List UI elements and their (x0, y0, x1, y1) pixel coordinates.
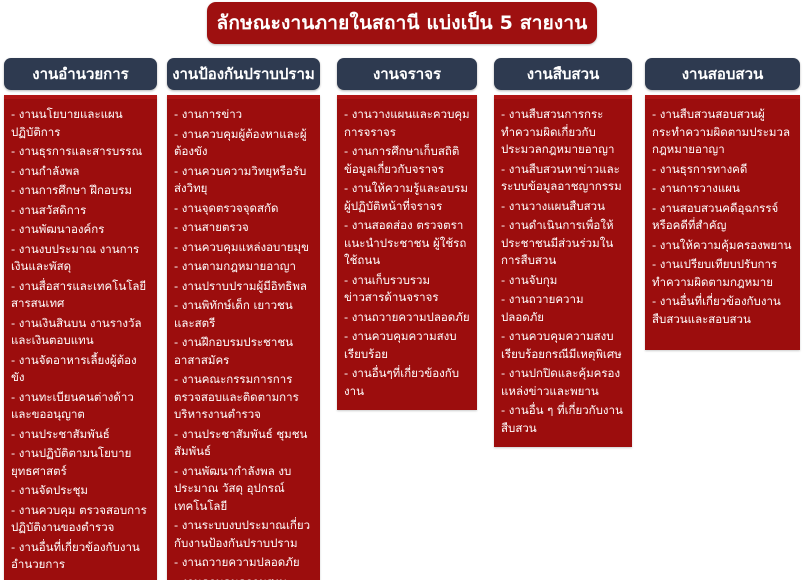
branch-column-traffic: งานจราจร - งานวางแผนและควบคุมการจราจร - … (337, 58, 477, 410)
list-item: - งานสายตรวจ (174, 219, 313, 237)
list-item: - งานคณะกรรมการการตรวจสอบและติดตามการบริ… (174, 371, 313, 424)
list-item: - งานอื่นที่เกี่ยวข้องกับงานสืบสวนและสอบ… (652, 293, 793, 328)
list-item: - งานกำลังพล (11, 163, 150, 181)
list-item: - งานให้ความคุ้มครองพยาน (652, 237, 793, 255)
list-item: - งานระบบงบประมาณเกี่ยวกับงานป้องกันปราบ… (174, 517, 313, 552)
list-item: - งานปราบปรามผู้มีอิทธิพล (174, 278, 313, 296)
list-item: - งานเปรียบเทียบปรับการทำความผิดตามกฎหมา… (652, 256, 793, 291)
list-item: - งานดำเนินการเพื่อให้ประชาชนมีส่วนร่วมใ… (501, 217, 625, 270)
list-item: - งานการข่าว (174, 106, 313, 124)
task-list-investigation: - งานสืบสวนการกระทำความผิดเกี่ยวกับประมว… (501, 106, 625, 437)
column-header-traffic[interactable]: งานจราจร (337, 58, 477, 90)
list-item: - งานงบประมาณ งานการเงินและพัสดุ (11, 241, 150, 276)
column-header-label: งานสืบสวน (527, 62, 600, 86)
list-item: - งานพัฒนาองค์กร (11, 221, 150, 239)
org-chart-page: ลักษณะงานภายในสถานี แบ่งเป็น 5 สายงาน งา… (0, 0, 805, 580)
column-body-inquiry: - งานสืบสวนสอบสวนผู้กระทำความผิดตามประมว… (645, 95, 800, 350)
list-item: - งานธุรการและสารบรรณ (11, 143, 150, 161)
list-item: - งานควบคุมผู้ต้องหาและผู้ต้องขัง (174, 126, 313, 161)
task-list-inquiry: - งานสืบสวนสอบสวนผู้กระทำความผิดตามประมว… (652, 106, 793, 328)
list-item: - งานพิทักษ์เด็ก เยาวชน และสตรี (174, 297, 313, 332)
list-item: - งานการศึกษา ฝึกอบรม (11, 182, 150, 200)
column-header-label: งานสอบสวน (682, 62, 764, 86)
list-item: - งานพัฒนากำลังพล งบประมาณ วัสดุ อุปกรณ์… (174, 463, 313, 516)
list-item: - งานอื่นๆที่เกี่ยวข้องกับงาน (344, 365, 470, 400)
task-list-crime-prevention: - งานการข่าว - งานควบคุมผู้ต้องหาและผู้ต… (174, 106, 313, 580)
list-item: - งานปกปิดและคุ้มครองแหล่งข่าวและพยาน (501, 365, 625, 400)
branch-column-inquiry: งานสอบสวน - งานสืบสวนสอบสวนผู้กระทำความผ… (645, 58, 800, 350)
list-item: - งานประชาสัมพันธ์ (11, 426, 150, 444)
list-item: - งานการศึกษาเก็บสถิติข้อมูลเกี่ยวกับจรา… (344, 143, 470, 178)
list-item: - งานควบคุมความสงบเรียบร้อย (344, 328, 470, 363)
list-item: - งานถวายความปลอดภัย (344, 309, 470, 327)
column-body-investigation: - งานสืบสวนการกระทำความผิดเกี่ยวกับประมว… (494, 95, 632, 447)
column-header-crime-prevention[interactable]: งานป้องกันปราบปราม (167, 58, 320, 90)
list-item: - งานจุดตรวจจุดสกัด (174, 200, 313, 218)
column-header-label: งานจราจร (373, 62, 441, 86)
list-item: - งานจับกุม (501, 272, 625, 290)
list-item: - งานควบคุมความสงบเรียบร้อยกรณีมีเหตุพิเ… (501, 328, 625, 363)
list-item: - งานสืบสวนการกระทำความผิดเกี่ยวกับประมว… (501, 106, 625, 159)
list-item: - งานสวัสดิการ (11, 202, 150, 220)
column-header-inquiry[interactable]: งานสอบสวน (645, 58, 800, 90)
column-body-crime-prevention: - งานการข่าว - งานควบคุมผู้ต้องหาและผู้ต… (167, 95, 320, 580)
page-title: ลักษณะงานภายในสถานี แบ่งเป็น 5 สายงาน (217, 8, 588, 38)
list-item: - งานควบคุมแหล่งอบายมุข (174, 239, 313, 257)
list-item: - งานจัดประชุม (11, 482, 150, 500)
list-item: - งานถวายความปลอดภัย (501, 291, 625, 326)
branch-column-investigation: งานสืบสวน - งานสืบสวนการกระทำความผิดเกี่… (494, 58, 632, 447)
list-item: - งานให้ความรู้และอบรมผู้ปฏิบัติหน้าที่จ… (344, 180, 470, 215)
page-title-banner: ลักษณะงานภายในสถานี แบ่งเป็น 5 สายงาน (207, 2, 597, 44)
list-item: - งานอื่น ๆ ที่เกี่ยวกับงานสืบสวน (501, 402, 625, 437)
list-item: - งานวางแผนสืบสวน (501, 198, 625, 216)
task-list-administration: - งานนโยบายและแผนปฏิบัติการ - งานธุรการแ… (11, 106, 150, 574)
list-item: - งานควบคุม ตรวจสอบการปฏิบัติงานของตำรวจ (11, 502, 150, 537)
list-item: - งานสอดส่อง ตรวจตรา แนะนำประชาชน ผู้ใช้… (344, 217, 470, 270)
branch-column-administration: งานอำนวยการ - งานนโยบายและแผนปฏิบัติการ … (4, 58, 157, 580)
column-header-label: งานอำนวยการ (32, 62, 128, 86)
list-item: - งานตามกฎหมายอาญา (174, 258, 313, 276)
list-item: - งานถวายความปลอดภัย (174, 554, 313, 572)
list-item: - งานควบความวิทยุหรือรับส่งวิทยุ (174, 163, 313, 198)
list-item: - งานปฏิบัติตามนโยบายยุทธศาสตร์ (11, 445, 150, 480)
list-item: - งานสืบสวนสอบสวนผู้กระทำความผิดตามประมว… (652, 106, 793, 159)
column-header-administration[interactable]: งานอำนวยการ (4, 58, 157, 90)
list-item: - งานจัดอาหารเลี้ยงผู้ต้องขัง (11, 352, 150, 387)
list-item: - งานวางแผนและควบคุมการจราจร (344, 106, 470, 141)
column-body-administration: - งานนโยบายและแผนปฏิบัติการ - งานธุรการแ… (4, 95, 157, 580)
list-item: - งานธุรการทางคดี (652, 161, 793, 179)
list-item: - งานนโยบายและแผนปฏิบัติการ (11, 106, 150, 141)
list-item: - งานทะเบียนคนต่างด้าวและขออนุญาต (11, 389, 150, 424)
list-item: - งานสืบสวนหาข่าวและระบบข้อมูลอาชญากรรม (501, 161, 625, 196)
list-item: - งานการวางแผน (652, 180, 793, 198)
list-item: - งานเงินสินบน งานรางวัลและเงินตอบแทน (11, 315, 150, 350)
list-item: - งานเก็บรวบรวมข่าวสารด้านจราจร (344, 272, 470, 307)
column-header-label: งานป้องกันปราบปราม (172, 62, 315, 86)
list-item: - งานอื่นที่เกี่ยวข้องกับงานอำนวยการ (11, 539, 150, 574)
task-list-traffic: - งานวางแผนและควบคุมการจราจร - งานการศึก… (344, 106, 470, 400)
list-item: - งานประชาสัมพันธ์ ชุมชนสัมพันธ์ (174, 426, 313, 461)
list-item: - งานฝึกอบรมประชาชนอาสาสมัคร (174, 334, 313, 369)
list-item: - งานสอบสวนคดีอุฉกรรจ์หรือคดีที่สำคัญ (652, 200, 793, 235)
list-item: - งานควบคุมความสงบเรียบร้อย (174, 574, 313, 580)
column-body-traffic: - งานวางแผนและควบคุมการจราจร - งานการศึก… (337, 95, 477, 410)
branch-column-crime-prevention: งานป้องกันปราบปราม - งานการข่าว - งานควบ… (167, 58, 320, 580)
column-header-investigation[interactable]: งานสืบสวน (494, 58, 632, 90)
list-item: - งานสื่อสารและเทคโนโลยีสารสนเทศ (11, 278, 150, 313)
